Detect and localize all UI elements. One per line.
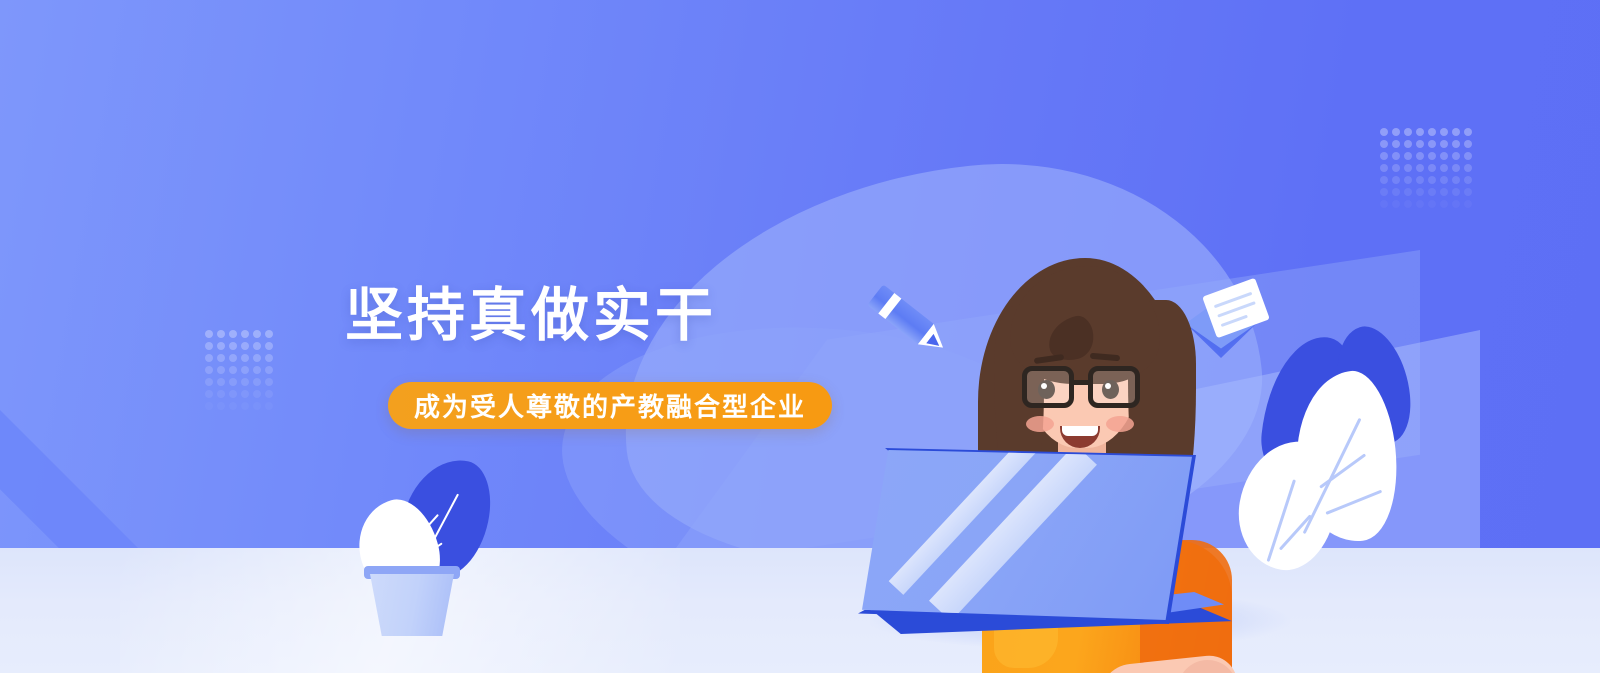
hero-banner: 坚持真做实干 成为受人尊敬的产教融合型企业	[0, 0, 1600, 673]
glasses-icon	[1022, 366, 1146, 408]
potted-plant-icon	[352, 448, 492, 638]
badge-label: 成为受人尊敬的产教融合型企业	[414, 387, 806, 424]
laptop-icon	[862, 450, 1232, 638]
page-title: 坚持真做实干	[345, 286, 717, 347]
white-leaf-icon	[1246, 336, 1406, 566]
lens-left	[1022, 366, 1074, 408]
status-badge: 成为受人尊敬的产教融合型企业	[388, 382, 832, 429]
plant-pot	[370, 574, 454, 636]
cheek-right	[1106, 416, 1134, 432]
glasses-bridge	[1074, 380, 1090, 385]
laptop-lid	[862, 450, 1192, 620]
cheek-left	[1026, 416, 1054, 432]
lens-right	[1088, 366, 1140, 408]
